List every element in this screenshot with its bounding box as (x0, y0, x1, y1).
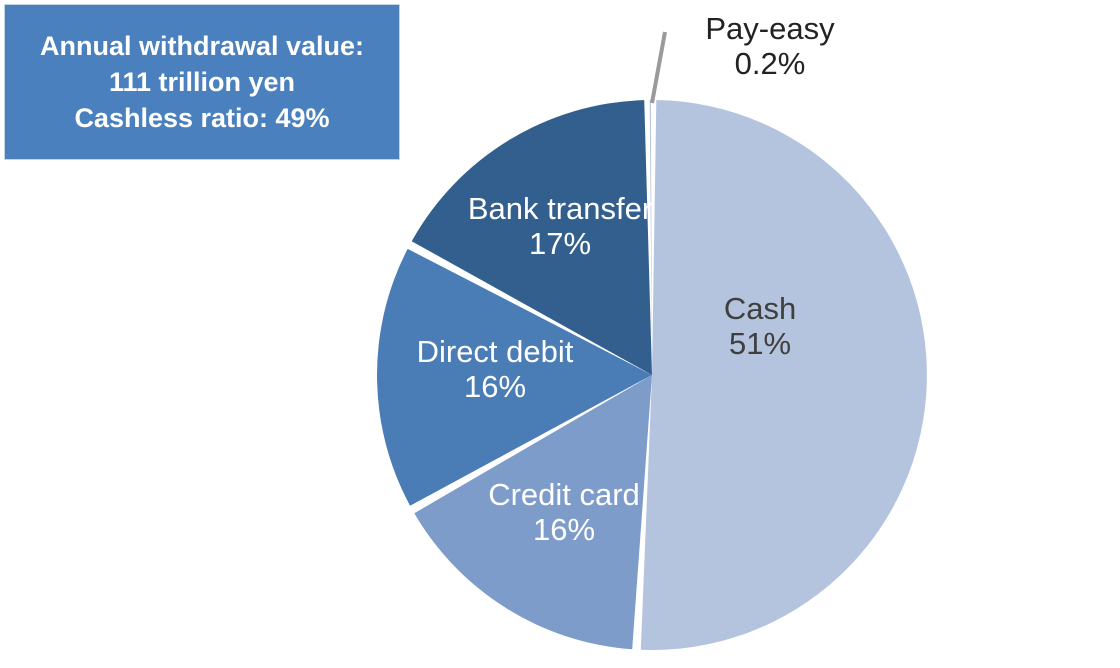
pie-chart (0, 0, 1120, 668)
pay-easy-leader-line (652, 32, 665, 103)
pie-slice-group (377, 100, 927, 650)
chart-canvas: Annual withdrawal value: 111 trillion ye… (0, 0, 1120, 668)
pie-slice-cash[interactable] (641, 100, 927, 650)
